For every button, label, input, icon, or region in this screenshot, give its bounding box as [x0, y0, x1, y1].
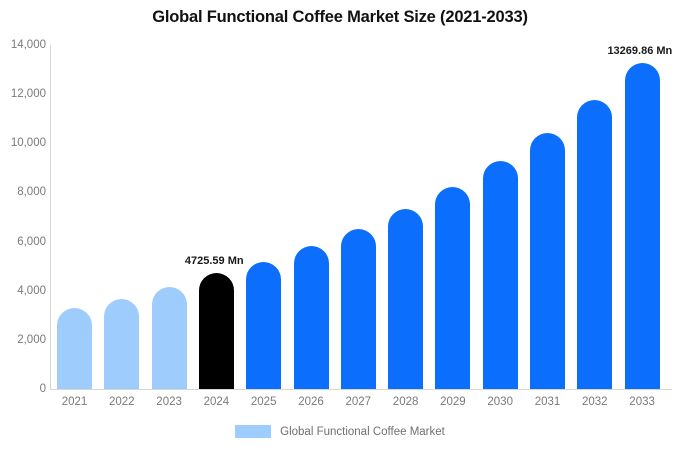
data-label-2024: 4725.59 Mn — [185, 255, 244, 267]
legend-item[interactable]: Global Functional Coffee Market — [235, 425, 445, 438]
x-axis-tick-2028: 2028 — [380, 396, 432, 408]
data-label-2033: 13269.86 Mn — [607, 45, 672, 57]
x-axis-tick-2031: 2031 — [522, 396, 574, 408]
x-axis-tick-2025: 2025 — [238, 396, 290, 408]
x-axis-tick-2033: 2033 — [616, 396, 668, 408]
x-axis-tick-2023: 2023 — [143, 396, 195, 408]
x-axis-tick-2022: 2022 — [96, 396, 148, 408]
chart-legend: Global Functional Coffee Market — [0, 425, 680, 438]
x-axis-tick-2021: 2021 — [49, 396, 101, 408]
chart-container: Global Functional Coffee Market Size (20… — [0, 0, 680, 450]
legend-color-swatch — [235, 425, 271, 438]
x-axis-tick-2026: 2026 — [285, 396, 337, 408]
x-axis-tick-2032: 2032 — [569, 396, 621, 408]
x-axis-tick-2024: 2024 — [190, 396, 242, 408]
x-axis-tick-2030: 2030 — [474, 396, 526, 408]
x-axis-tick-2027: 2027 — [332, 396, 384, 408]
legend-item-label: Global Functional Coffee Market — [280, 426, 445, 438]
x-axis-tick-2029: 2029 — [427, 396, 479, 408]
x-axis-tick-labels: 2021202220232024202520262027202820292030… — [0, 0, 680, 450]
